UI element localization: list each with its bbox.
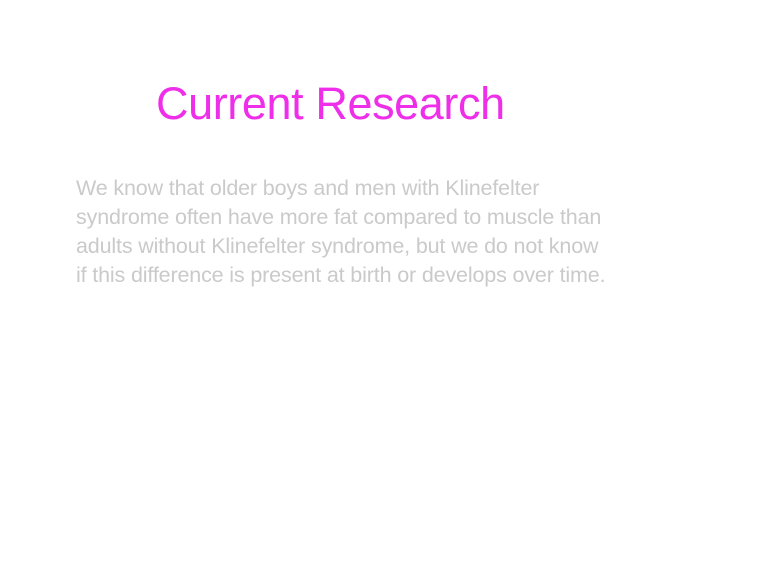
body-line: syndrome often have more fat compared to… xyxy=(76,203,676,232)
body-line: We know that older boys and men with Kli… xyxy=(76,174,676,203)
slide-body-text: We know that older boys and men with Kli… xyxy=(76,174,676,290)
body-line: if this difference is present at birth o… xyxy=(76,261,676,290)
body-line: adults without Klinefelter syndrome, but… xyxy=(76,232,676,261)
presentation-slide: Current Research We know that older boys… xyxy=(0,0,768,561)
page-title: Current Research xyxy=(156,76,505,132)
